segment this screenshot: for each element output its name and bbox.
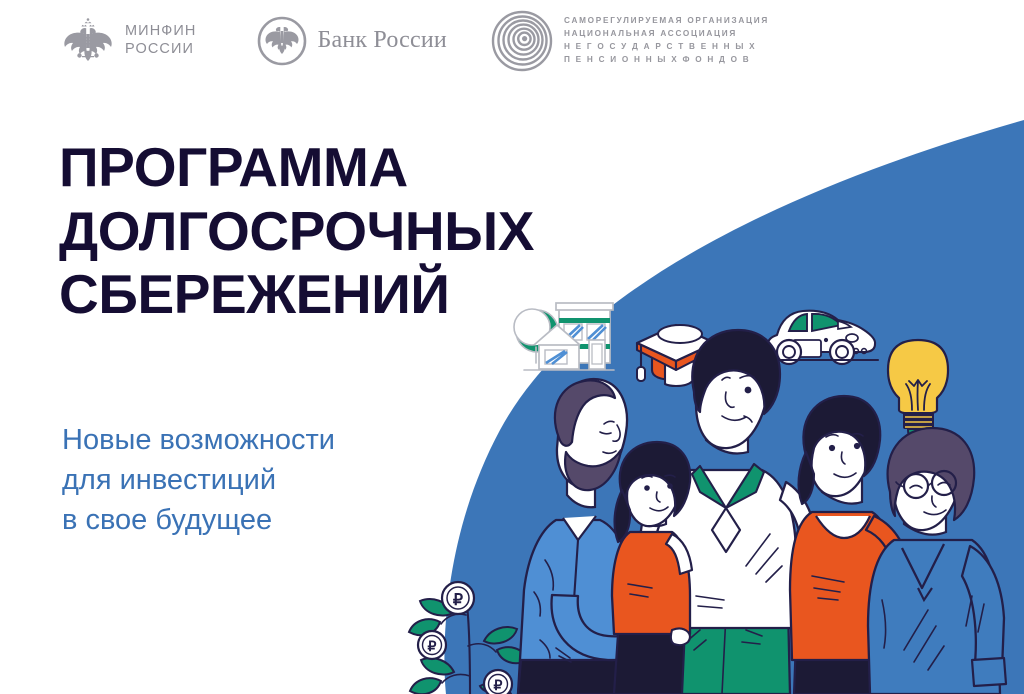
logo-minfin: МИНФИН РОССИИ (60, 13, 197, 69)
girl-hand (671, 628, 690, 645)
person-girl (612, 442, 692, 694)
money-plant-icon: ₽ ₽ ₽ (409, 582, 528, 694)
concentric-spiral-emblem-icon (491, 10, 553, 72)
page-title: ПРОГРАММА ДОЛГОСРОЧНЫХ СБЕРЕЖЕНИЙ (59, 136, 534, 327)
person-father (635, 330, 818, 694)
logo-bar: МИНФИН РОССИИ Банк России (60, 10, 769, 72)
svg-text:₽: ₽ (494, 677, 503, 693)
circular-eagle-emblem-icon (257, 16, 307, 66)
person-grandmother (868, 428, 1006, 694)
car-icon (768, 311, 878, 364)
background-curve (0, 0, 1024, 694)
logo-bank-rossii-label: Банк России (318, 26, 447, 55)
lightbulb-icon (888, 340, 948, 442)
illustration-family-savings: ₽ ₽ ₽ (0, 0, 1024, 694)
poster-root: МИНФИН РОССИИ Банк России (0, 0, 1024, 694)
logo-napf: САМОРЕГУЛИРУЕМАЯ ОРГАНИЗАЦИЯ НАЦИОНАЛЬНА… (491, 10, 769, 72)
svg-text:₽: ₽ (453, 592, 463, 609)
logo-bank-rossii: Банк России (257, 16, 447, 66)
page-subtitle: Новые возможности для инвестиций в свое … (62, 420, 335, 540)
person-grandfather (518, 379, 686, 694)
svg-text:₽: ₽ (428, 638, 437, 654)
logo-minfin-label: МИНФИН РОССИИ (125, 23, 197, 58)
double-headed-eagle-emblem-icon (60, 13, 116, 69)
logo-napf-label: САМОРЕГУЛИРУЕМАЯ ОРГАНИЗАЦИЯ НАЦИОНАЛЬНА… (564, 15, 769, 67)
graduation-cap-icon (637, 325, 715, 386)
person-mother (790, 396, 913, 694)
